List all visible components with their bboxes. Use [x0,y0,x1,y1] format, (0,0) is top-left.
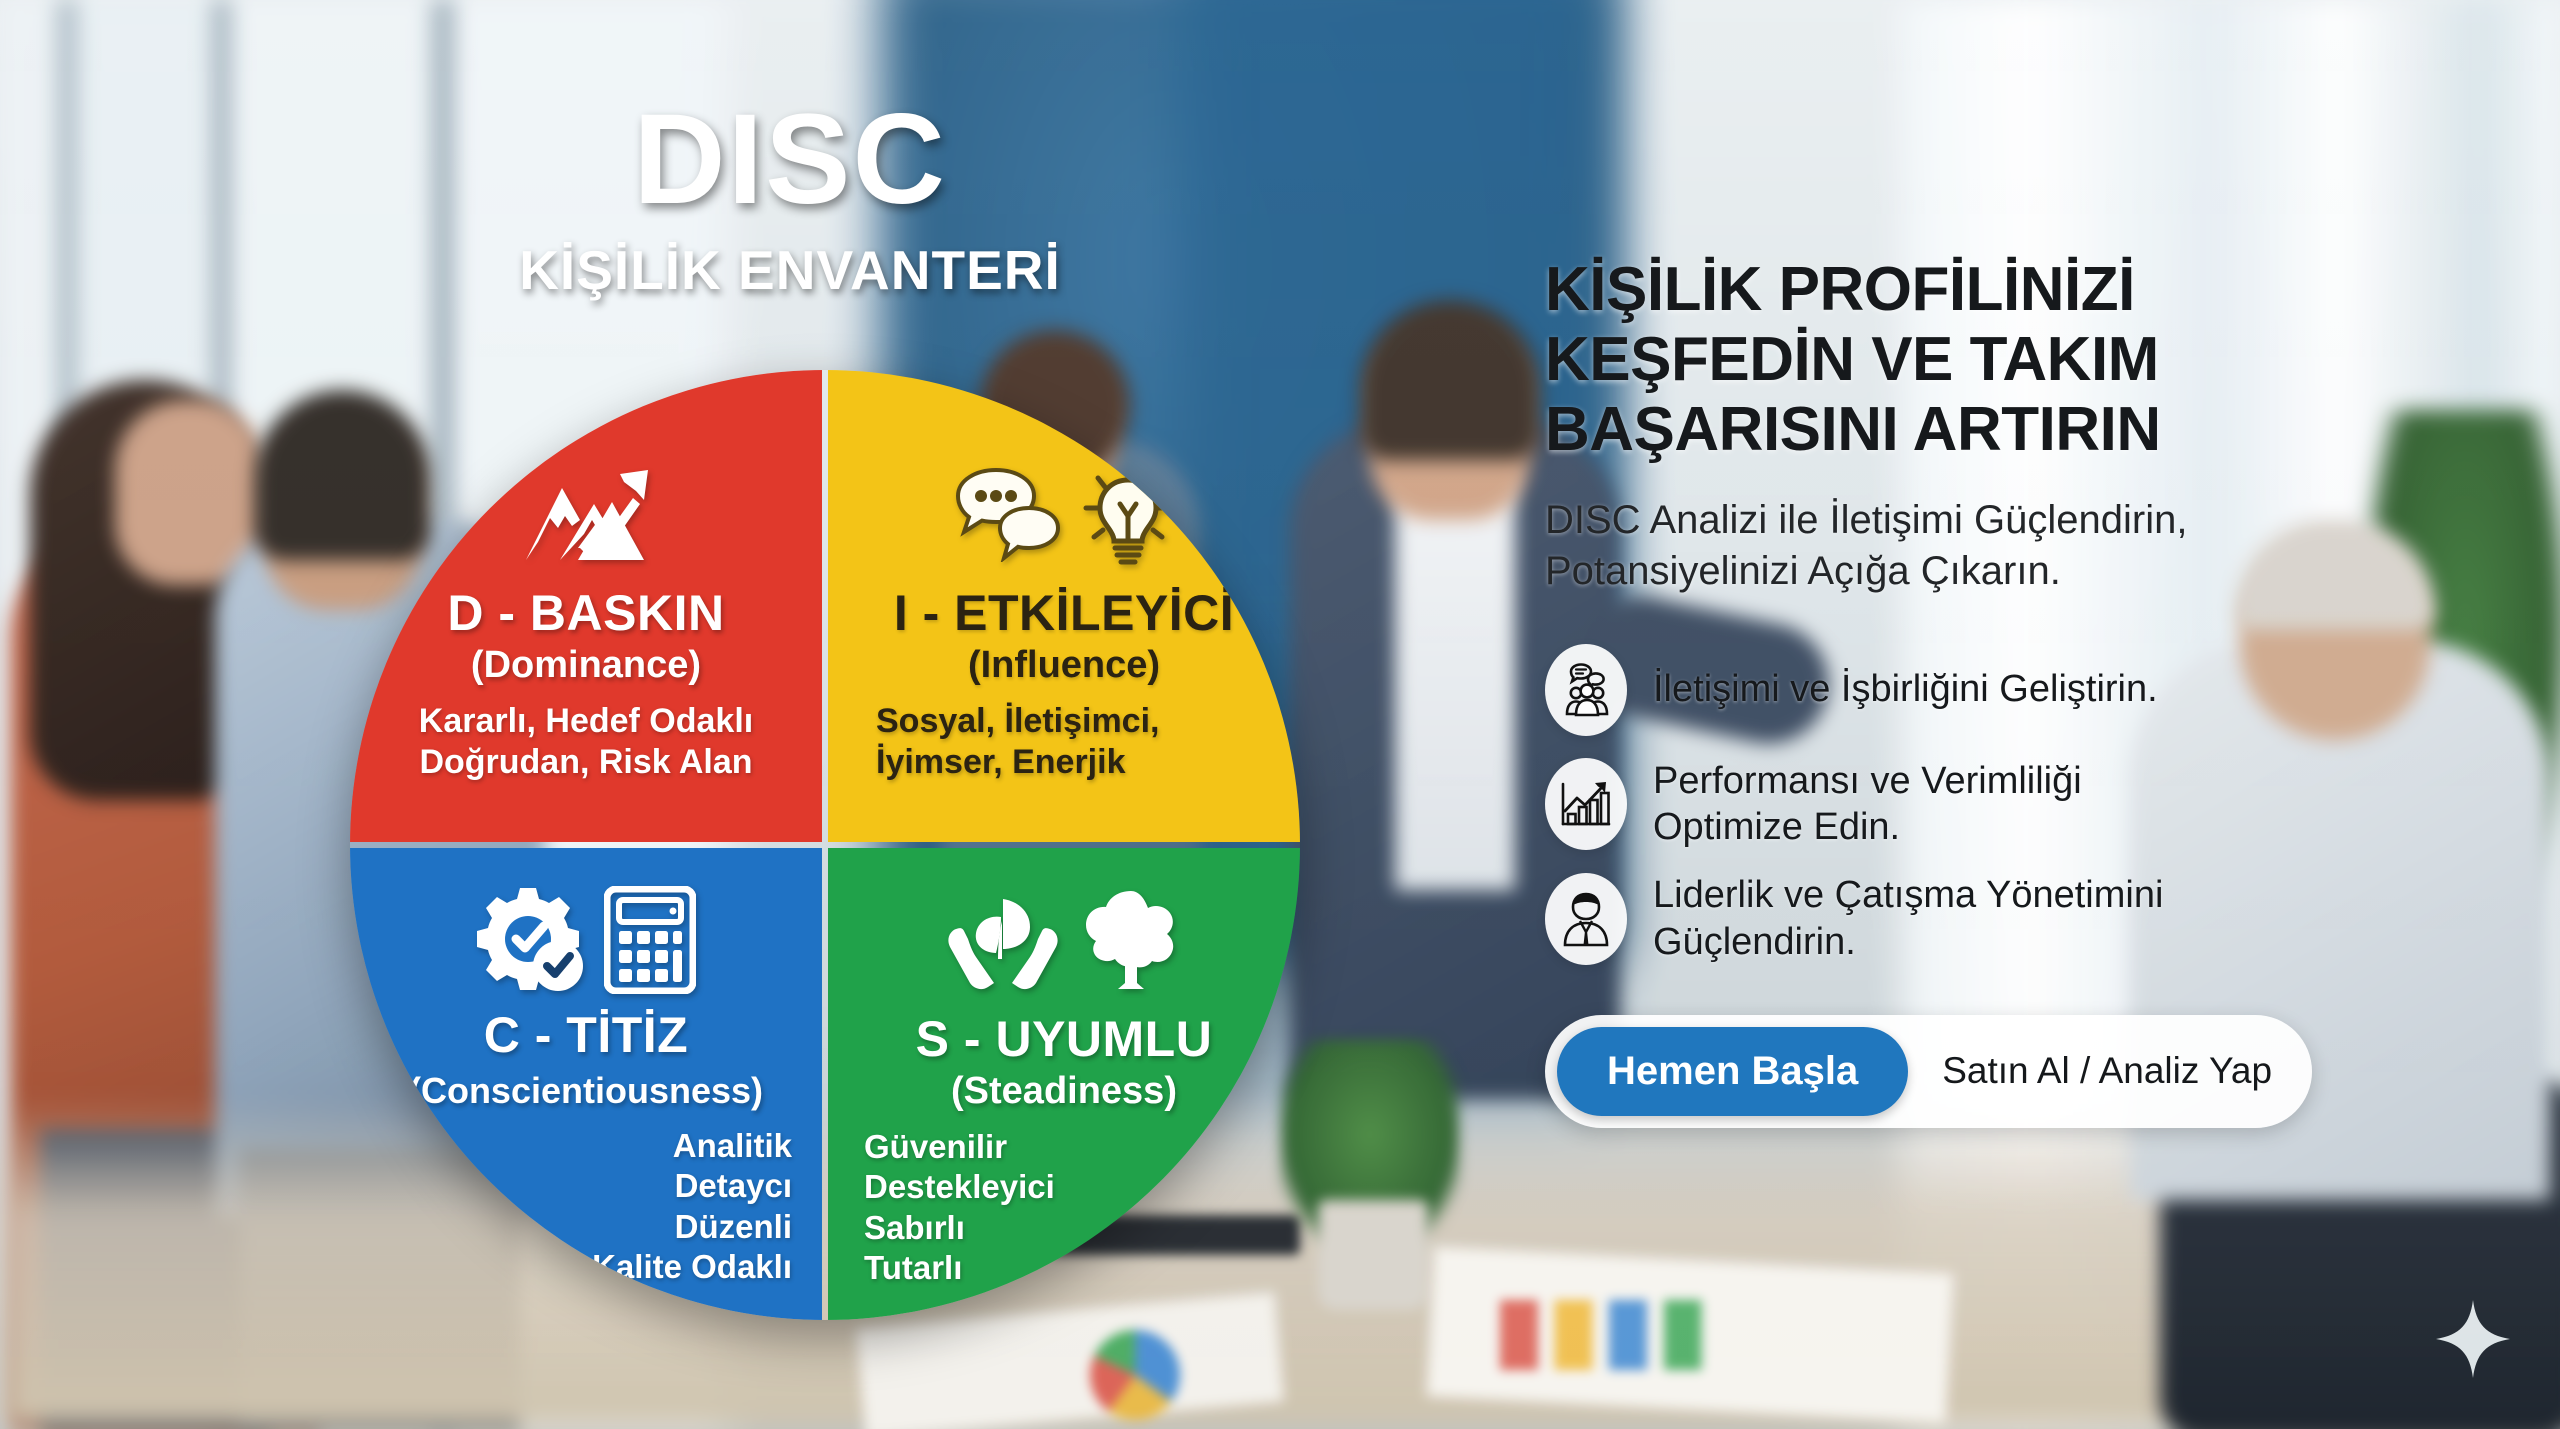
quadrant-dominance-trait-2: Doğrudan, Risk Alan [419,742,753,783]
quadrant-dominance-english: (Dominance) [471,644,701,687]
quadrant-influence[interactable]: I - ETKİLEYİCİ (Influence) Sosyal, İleti… [828,370,1300,842]
lightbulb-icon [1078,462,1178,566]
bar-chart-growth-icon [1545,758,1627,850]
page-subtitle: KİŞİLİK ENVANTERİ [430,238,1150,302]
quadrant-steadiness-trait-2: Destekleyici [864,1167,1278,1207]
list-item: Liderlik ve Çatışma Yönetimini Güçlendir… [1545,872,2365,965]
headline-line-2: KEŞFEDİN VE TAKIM [1545,325,2365,395]
quadrant-steadiness-trait-4: Tutarlı [864,1248,1278,1288]
quadrant-dominance-title: D - BASKIN [447,584,724,642]
quadrant-conscientiousness-traits: Analitik Detaycı Düzenli Kalite Odaklı [372,1126,800,1287]
quadrant-influence-trait-1: Sosyal, İletişimci, [876,701,1278,742]
quadrant-influence-trait-2: İyimser, Enerjik [876,742,1278,783]
marketing-headline: KİŞİLİK PROFİLİNİZİ KEŞFEDİN VE TAKIM BA… [1545,255,2365,465]
quadrant-conscientiousness-trait-1: Analitik [372,1126,792,1166]
cta-note-label[interactable]: Satın Al / Analiz Yap [1942,1050,2272,1092]
benefit-1-line-1: İletişimi ve İşbirliğini Geliştirin. [1653,668,2158,710]
benefit-text: Liderlik ve Çatışma Yönetimini Güçlendir… [1653,872,2163,965]
benefit-3-line-2: Güçlendirin. [1653,921,1856,963]
marketing-subheadline: DISC Analizi ile İletişimi Güçlendirin, … [1545,495,2365,597]
quadrant-steadiness-trait-3: Sabırlı [864,1208,1278,1248]
gear-check-icon [476,886,588,994]
benefit-3-line-1: Liderlik ve Çatışma Yönetimini [1653,874,2163,916]
page-title: DISC [430,95,1150,226]
cta-container: Hemen Başla Satın Al / Analiz Yap [1545,1015,2312,1128]
sparkle-icon [2434,1298,2512,1385]
quadrant-conscientiousness[interactable]: C - TİTİZ (Conscientiousness) Analitik D… [350,848,822,1320]
people-chat-icon [1545,644,1627,736]
benefit-2-line-1: Performansı ve Verimliliği [1653,760,2082,802]
tree-icon [1078,887,1184,993]
quadrant-steadiness-icons [944,880,1184,1000]
quadrant-dominance-trait-1: Kararlı, Hedef Odaklı [419,701,753,742]
benefit-text: Performansı ve Verimliliği Optimize Edin… [1653,758,2082,851]
quadrant-conscientiousness-english: (Conscientiousness) [409,1070,763,1112]
businessperson-icon [1545,873,1627,965]
poster-canvas: DISC KİŞİLİK ENVANTERİ [0,0,2560,1429]
quadrant-steadiness-traits: Güvenilir Destekleyici Sabırlı Tutarlı [850,1127,1278,1288]
benefit-text: İletişimi ve İşbirliğini Geliştirin. [1653,666,2158,712]
quadrant-conscientiousness-trait-2: Detaycı [372,1166,792,1206]
start-now-button[interactable]: Hemen Başla [1557,1027,1908,1116]
quadrant-conscientiousness-title: C - TİTİZ [484,1006,688,1064]
quadrant-influence-traits: Sosyal, İletişimci, İyimser, Enerjik [850,701,1278,784]
quadrant-dominance-icons [520,454,652,574]
benefit-2-line-2: Optimize Edin. [1653,806,1900,848]
subheadline-line-2: Potansiyelinizi Açığa Çıkarın. [1545,546,2365,597]
quadrant-influence-english: (Influence) [968,644,1160,687]
poster-title-block: DISC KİŞİLİK ENVANTERİ [430,95,1150,302]
quadrant-steadiness[interactable]: S - UYUMLU (Steadiness) Güvenilir Destek… [828,848,1300,1320]
list-item: Performansı ve Verimliliği Optimize Edin… [1545,758,2365,851]
right-content-panel: KİŞİLİK PROFİLİNİZİ KEŞFEDİN VE TAKIM BA… [1545,255,2365,1128]
quadrant-steadiness-english: (Steadiness) [951,1070,1177,1113]
headline-line-3: BAŞARISINI ARTIRIN [1545,395,2365,465]
list-item: İletişimi ve İşbirliğini Geliştirin. [1545,644,2365,736]
quadrant-conscientiousness-trait-4: Kalite Odaklı [372,1247,792,1287]
disc-wheel: D - BASKIN (Dominance) Kararlı, Hedef Od… [350,370,1300,1320]
benefits-list: İletişimi ve İşbirliğini Geliştirin. [1545,644,2365,965]
quadrant-dominance[interactable]: D - BASKIN (Dominance) Kararlı, Hedef Od… [350,370,822,842]
hands-leaf-icon [944,887,1062,993]
quadrant-steadiness-trait-1: Güvenilir [864,1127,1278,1167]
quadrant-influence-icons [950,454,1178,574]
quadrant-influence-title: I - ETKİLEYİCİ [894,584,1234,642]
speech-bubbles-icon [950,466,1062,562]
calculator-icon [604,886,696,994]
quadrant-steadiness-title: S - UYUMLU [916,1010,1213,1068]
mountain-growth-icon [520,460,652,568]
quadrant-dominance-traits: Kararlı, Hedef Odaklı Doğrudan, Risk Ala… [419,701,753,784]
quadrant-conscientiousness-trait-3: Düzenli [372,1207,792,1247]
subheadline-line-1: DISC Analizi ile İletişimi Güçlendirin, [1545,495,2365,546]
quadrant-conscientiousness-icons [476,880,696,1000]
headline-line-1: KİŞİLİK PROFİLİNİZİ [1545,255,2365,325]
